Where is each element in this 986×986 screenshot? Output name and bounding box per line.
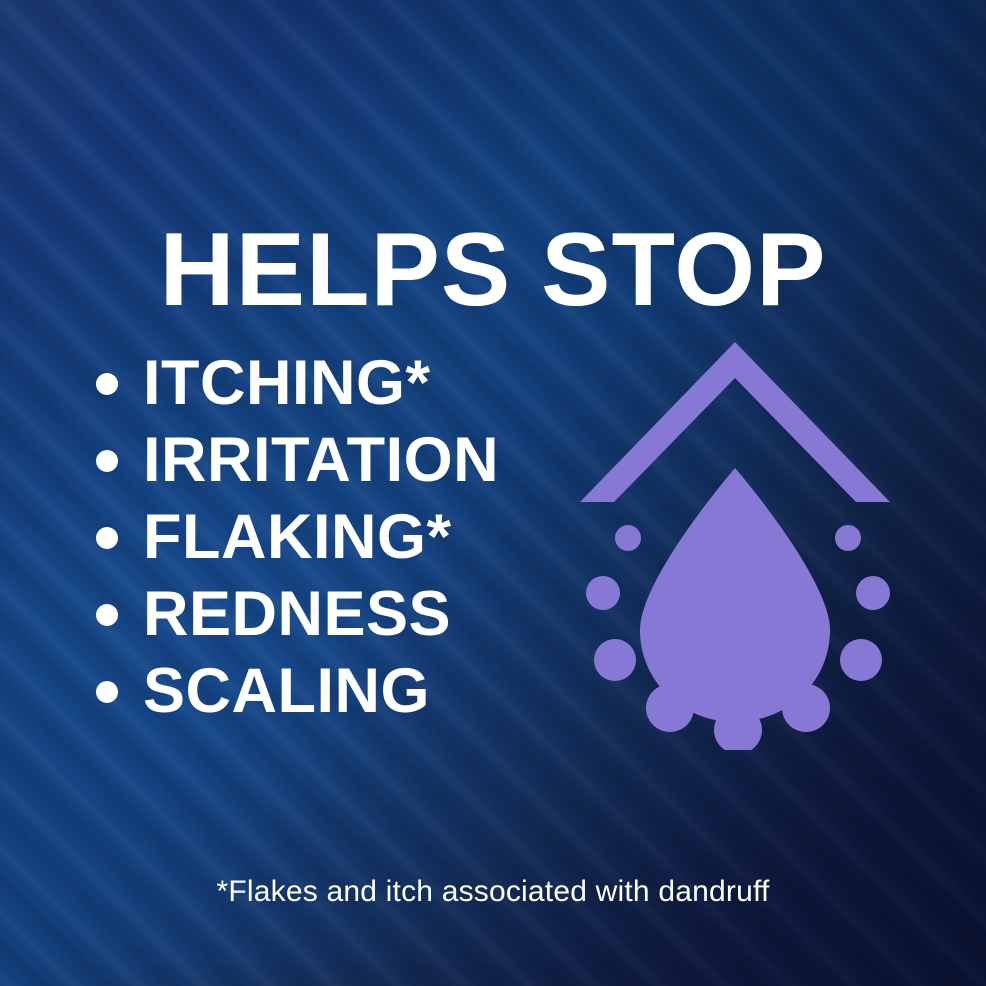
- list-item: REDNESS: [96, 576, 499, 653]
- benefit-label: IRRITATION: [143, 429, 499, 492]
- benefit-label: ITCHING*: [143, 352, 431, 415]
- list-item: IRRITATION: [96, 422, 499, 499]
- dot-icon: [646, 684, 694, 732]
- benefit-label: SCALING: [143, 660, 430, 723]
- benefit-list: ITCHING* IRRITATION FLAKING* REDNESS SCA…: [96, 345, 499, 730]
- bullet-dot-icon: [96, 373, 118, 395]
- dot-icon: [782, 684, 830, 732]
- bullet-dot-icon: [96, 604, 118, 626]
- dot-icon: [835, 525, 861, 551]
- dot-icon: [594, 639, 636, 681]
- bullet-dot-icon: [96, 681, 118, 703]
- water-droplet-with-chevron-icon: [580, 330, 910, 750]
- promo-card: HELPS STOP ITCHING* IRRITATION FLAKING* …: [0, 0, 986, 986]
- list-item: FLAKING*: [96, 499, 499, 576]
- dot-icon: [615, 525, 641, 551]
- dot-icon: [856, 576, 890, 610]
- benefit-label: FLAKING*: [143, 506, 451, 569]
- list-item: ITCHING*: [96, 345, 499, 422]
- bullet-dot-icon: [96, 450, 118, 472]
- page-title: HELPS STOP: [0, 218, 986, 322]
- benefit-label: REDNESS: [143, 583, 451, 646]
- dot-icon: [586, 576, 620, 610]
- dot-icon: [840, 639, 882, 681]
- card-content: HELPS STOP ITCHING* IRRITATION FLAKING* …: [0, 0, 986, 986]
- list-item: SCALING: [96, 653, 499, 730]
- bullet-dot-icon: [96, 527, 118, 549]
- droplet-body-icon: [640, 468, 830, 722]
- footnote-text: *Flakes and itch associated with dandruf…: [0, 875, 986, 909]
